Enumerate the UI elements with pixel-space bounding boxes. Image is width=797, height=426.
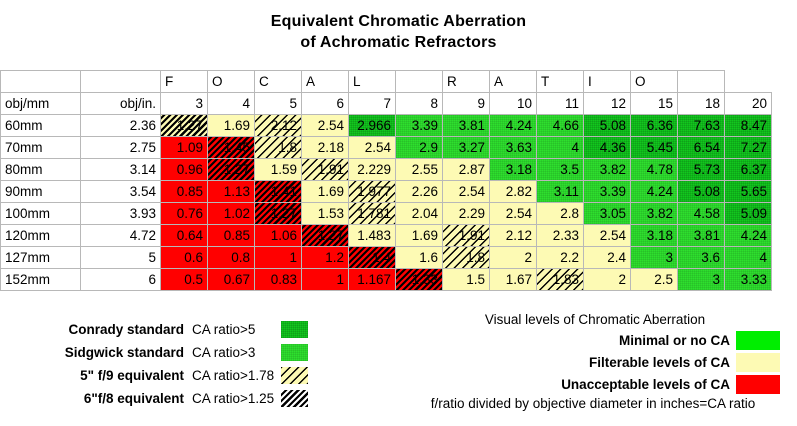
cell-ca-ratio: 2.82	[490, 181, 537, 203]
focal-ratio-letter: L	[349, 71, 396, 93]
legend-item: 5" f/9 equivalentCA ratio>1.78	[24, 364, 314, 386]
cell-ca-ratio: 3.18	[631, 225, 678, 247]
cell-ca-ratio: 4.78	[631, 159, 678, 181]
focal-ratio-letter: C	[255, 71, 302, 93]
cell-ca-ratio: 2.26	[396, 181, 443, 203]
cell-ca-ratio: 0.8	[208, 247, 255, 269]
chromatic-aberration-table: FOCALRATIO obj/mmobj/in.3456789101112151…	[0, 70, 772, 291]
visual-level-swatch-yellow	[736, 353, 780, 372]
cell-ca-ratio: 7.27	[725, 137, 772, 159]
cell-ca-ratio: 1	[302, 269, 349, 291]
table-row: 80mm3.140.961.271.591.912.2292.552.873.1…	[1, 159, 772, 181]
visual-level-label: Filterable levels of CA	[589, 355, 736, 370]
cell-ca-ratio: 0.64	[161, 225, 208, 247]
cell-ca-ratio: 1.69	[302, 181, 349, 203]
legend-swatch-green	[280, 343, 309, 362]
cell-ca-ratio: 5.08	[584, 115, 631, 137]
cell-ca-ratio: 4.24	[725, 225, 772, 247]
cell-ca-ratio: 2.8	[537, 203, 584, 225]
page-title: Equivalent Chromatic Aberration of Achro…	[0, 11, 797, 53]
cell-ca-ratio: 2.54	[302, 115, 349, 137]
legend-standard-name: 6"f/8 equivalent	[24, 391, 192, 406]
cell-ca-ratio: 1.5	[443, 269, 490, 291]
table-row: 100mm3.930.761.021.271.531.7812.042.292.…	[1, 203, 772, 225]
cell-ca-ratio: 5.65	[725, 181, 772, 203]
cell-ca-ratio: 2.5	[631, 269, 678, 291]
page-title-line-2: of Achromatic Refractors	[0, 32, 797, 53]
cell-ca-ratio: 1.8	[443, 247, 490, 269]
cell-ca-ratio: 5.45	[631, 137, 678, 159]
cell-ca-ratio: 8.47	[725, 115, 772, 137]
cell-ca-ratio: 0.96	[161, 159, 208, 181]
header-focal-ratio: 5	[255, 93, 302, 115]
header-focal-ratio: 11	[537, 93, 584, 115]
legend-swatch-hatch-dark	[280, 389, 309, 408]
cell-ca-ratio: 2.55	[396, 159, 443, 181]
cell-objective-mm: 127mm	[1, 247, 81, 269]
cell-ca-ratio: 2.54	[490, 203, 537, 225]
cell-ca-ratio: 3.05	[584, 203, 631, 225]
cell-ca-ratio: 1.02	[208, 203, 255, 225]
header-focal-ratio: 12	[584, 93, 631, 115]
cell-ca-ratio: 2.54	[349, 137, 396, 159]
cell-ca-ratio: 6.37	[725, 159, 772, 181]
focal-ratio-letter	[396, 71, 443, 93]
cell-ca-ratio: 2.04	[396, 203, 443, 225]
cell-ca-ratio: 1.6	[396, 247, 443, 269]
cell-ca-ratio: 2.966	[349, 115, 396, 137]
page-title-line-1: Equivalent Chromatic Aberration	[0, 11, 797, 32]
table-row: 90mm3.540.851.131.411.691.9772.262.542.8…	[1, 181, 772, 203]
cell-ca-ratio: 2.29	[443, 203, 490, 225]
cell-ca-ratio: 2.54	[584, 225, 631, 247]
visual-level-label: Unacceptable levels of CA	[561, 377, 736, 392]
legend-standard-name: Sidgwick standard	[24, 345, 192, 360]
cell-ca-ratio: 5.08	[678, 181, 725, 203]
cell-ca-ratio: 1.91	[302, 159, 349, 181]
cell-ca-ratio: 4	[537, 137, 584, 159]
cell-ca-ratio: 3.27	[443, 137, 490, 159]
legend-swatch-green2	[280, 320, 309, 339]
focal-ratio-letter: O	[208, 71, 255, 93]
cell-ca-ratio: 4.24	[631, 181, 678, 203]
table-row: 127mm50.60.811.21.41.61.822.22.433.64	[1, 247, 772, 269]
cell-ca-ratio: 2	[584, 269, 631, 291]
header-obj-in: obj/in.	[81, 93, 161, 115]
cell-ca-ratio: 1.83	[537, 269, 584, 291]
cell-ca-ratio: 4.36	[584, 137, 631, 159]
focal-ratio-letter	[678, 71, 725, 93]
cell-ca-ratio: 1.13	[208, 181, 255, 203]
legend-standard-condition: CA ratio>3	[192, 345, 280, 360]
visual-level-item: Unacceptable levels of CA	[430, 374, 780, 395]
cell-ca-ratio: 3.11	[537, 181, 584, 203]
cell-ca-ratio: 1.781	[349, 203, 396, 225]
cell-ca-ratio: 0.6	[161, 247, 208, 269]
cell-objective-in: 3.93	[81, 203, 161, 225]
table-row: 152mm60.50.670.8311.1671.331.51.671.8322…	[1, 269, 772, 291]
cell-ca-ratio: 6.36	[631, 115, 678, 137]
cell-ca-ratio: 2.87	[443, 159, 490, 181]
focal-ratio-letter: I	[584, 71, 631, 93]
header-focal-ratio: 18	[678, 93, 725, 115]
table-row: 120mm4.720.640.851.061.271.4831.691.912.…	[1, 225, 772, 247]
cell-ca-ratio: 1.27	[161, 115, 208, 137]
cell-objective-mm: 70mm	[1, 137, 81, 159]
table-row: 60mm2.361.271.692.122.542.9663.393.814.2…	[1, 115, 772, 137]
cell-ca-ratio: 1.27	[208, 159, 255, 181]
cell-ca-ratio: 3.39	[584, 181, 631, 203]
cell-ca-ratio: 2.4	[584, 247, 631, 269]
cell-ca-ratio: 3.39	[396, 115, 443, 137]
standards-legend: Conrady standardCA ratio>5Sidgwick stand…	[24, 318, 314, 410]
cell-ca-ratio: 2.54	[443, 181, 490, 203]
header-focal-ratio: 8	[396, 93, 443, 115]
cell-ca-ratio: 1.167	[349, 269, 396, 291]
legend-standard-name: 5" f/9 equivalent	[24, 368, 192, 383]
header-focal-ratio: 3	[161, 93, 208, 115]
cell-ca-ratio: 0.76	[161, 203, 208, 225]
cell-ca-ratio: 1.977	[349, 181, 396, 203]
cell-objective-in: 4.72	[81, 225, 161, 247]
cell-ca-ratio: 3.82	[584, 159, 631, 181]
legend-standard-condition: CA ratio>1.25	[192, 391, 280, 406]
cell-objective-mm: 60mm	[1, 115, 81, 137]
cell-ca-ratio: 0.83	[255, 269, 302, 291]
cell-ca-ratio: 4.24	[490, 115, 537, 137]
focal-letter-spacer-right	[81, 71, 161, 93]
cell-ca-ratio: 3	[678, 269, 725, 291]
visual-level-item: Filterable levels of CA	[430, 352, 780, 373]
cell-ca-ratio: 0.5	[161, 269, 208, 291]
cell-ca-ratio: 6.54	[678, 137, 725, 159]
cell-ca-ratio: 1.45	[208, 137, 255, 159]
cell-ca-ratio: 3.63	[490, 137, 537, 159]
cell-ca-ratio: 5.73	[678, 159, 725, 181]
cell-ca-ratio: 3.81	[443, 115, 490, 137]
cell-ca-ratio: 0.85	[208, 225, 255, 247]
table-row: 70mm2.751.091.451.82.182.542.93.273.6344…	[1, 137, 772, 159]
cell-objective-in: 2.75	[81, 137, 161, 159]
cell-ca-ratio: 1.69	[396, 225, 443, 247]
visual-level-label: Minimal or no CA	[619, 333, 736, 348]
legend-item: Sidgwick standardCA ratio>3	[24, 341, 314, 363]
header-focal-ratio: 6	[302, 93, 349, 115]
visual-levels-legend: Visual levels of Chromatic Aberration Mi…	[430, 312, 780, 396]
header-obj-mm: obj/mm	[1, 93, 81, 115]
cell-ca-ratio: 1	[255, 247, 302, 269]
header-focal-ratio: 15	[631, 93, 678, 115]
cell-ca-ratio: 3.5	[537, 159, 584, 181]
cell-ca-ratio: 1.483	[349, 225, 396, 247]
cell-ca-ratio: 2.229	[349, 159, 396, 181]
cell-objective-mm: 152mm	[1, 269, 81, 291]
header-focal-ratio: 7	[349, 93, 396, 115]
cell-ca-ratio: 7.63	[678, 115, 725, 137]
cell-ca-ratio: 1.67	[490, 269, 537, 291]
header-focal-ratio: 10	[490, 93, 537, 115]
cell-objective-in: 6	[81, 269, 161, 291]
cell-objective-mm: 80mm	[1, 159, 81, 181]
cell-objective-mm: 120mm	[1, 225, 81, 247]
cell-ca-ratio: 2.18	[302, 137, 349, 159]
legend-item: 6"f/8 equivalentCA ratio>1.25	[24, 387, 314, 409]
cell-ca-ratio: 2.12	[490, 225, 537, 247]
cell-objective-in: 3.14	[81, 159, 161, 181]
cell-ca-ratio: 2.33	[537, 225, 584, 247]
cell-ca-ratio: 1.53	[302, 203, 349, 225]
focal-ratio-letter: O	[631, 71, 678, 93]
focal-ratio-letter: F	[161, 71, 208, 93]
cell-ca-ratio: 1.06	[255, 225, 302, 247]
cell-ca-ratio: 1.33	[396, 269, 443, 291]
focal-ratio-letter: A	[490, 71, 537, 93]
cell-ca-ratio: 4.66	[537, 115, 584, 137]
cell-ca-ratio: 0.67	[208, 269, 255, 291]
cell-ca-ratio: 1.27	[302, 225, 349, 247]
focal-letter-spacer-left	[1, 71, 81, 93]
cell-ca-ratio: 3.81	[678, 225, 725, 247]
cell-ca-ratio: 3.6	[678, 247, 725, 269]
cell-ca-ratio: 1.59	[255, 159, 302, 181]
focal-ratio-values-row: obj/mmobj/in.3456789101112151820	[1, 93, 772, 115]
focal-ratio-letters-row: FOCALRATIO	[1, 71, 772, 93]
cell-ca-ratio: 1.8	[255, 137, 302, 159]
table-body: FOCALRATIO obj/mmobj/in.3456789101112151…	[1, 71, 772, 291]
header-focal-ratio: 20	[725, 93, 772, 115]
cell-ca-ratio: 1.91	[443, 225, 490, 247]
focal-ratio-letter: A	[302, 71, 349, 93]
focal-ratio-letter: R	[443, 71, 490, 93]
legend-item: Conrady standardCA ratio>5	[24, 318, 314, 340]
cell-ca-ratio: 3.33	[725, 269, 772, 291]
cell-objective-mm: 100mm	[1, 203, 81, 225]
footnote-text: f/ratio divided by objective diameter in…	[398, 396, 788, 411]
cell-ca-ratio: 3.82	[631, 203, 678, 225]
visual-levels-legend-rows: Minimal or no CAFilterable levels of CAU…	[430, 330, 780, 395]
cell-ca-ratio: 5.09	[725, 203, 772, 225]
cell-objective-in: 2.36	[81, 115, 161, 137]
cell-ca-ratio: 4.58	[678, 203, 725, 225]
cell-ca-ratio: 3	[631, 247, 678, 269]
header-focal-ratio: 9	[443, 93, 490, 115]
cell-ca-ratio: 3.18	[490, 159, 537, 181]
cell-ca-ratio: 2.9	[396, 137, 443, 159]
cell-ca-ratio: 2	[490, 247, 537, 269]
cell-objective-in: 5	[81, 247, 161, 269]
visual-level-item: Minimal or no CA	[430, 330, 780, 351]
header-focal-ratio: 4	[208, 93, 255, 115]
cell-ca-ratio: 4	[725, 247, 772, 269]
legend-standard-condition: CA ratio>5	[192, 322, 280, 337]
cell-ca-ratio: 1.27	[255, 203, 302, 225]
visual-levels-legend-title: Visual levels of Chromatic Aberration	[430, 312, 780, 327]
visual-level-swatch-green-solid	[736, 331, 780, 350]
cell-ca-ratio: 1.09	[161, 137, 208, 159]
cell-ca-ratio: 1.41	[255, 181, 302, 203]
cell-ca-ratio: 1.4	[349, 247, 396, 269]
cell-objective-mm: 90mm	[1, 181, 81, 203]
cell-ca-ratio: 0.85	[161, 181, 208, 203]
cell-ca-ratio: 1.2	[302, 247, 349, 269]
cell-ca-ratio: 1.69	[208, 115, 255, 137]
visual-level-swatch-red	[736, 375, 780, 394]
cell-ca-ratio: 2.2	[537, 247, 584, 269]
cell-ca-ratio: 2.12	[255, 115, 302, 137]
legend-standard-name: Conrady standard	[24, 322, 192, 337]
focal-ratio-letter: T	[537, 71, 584, 93]
legend-standard-condition: CA ratio>1.78	[192, 368, 280, 383]
legend-swatch-hatch-light	[280, 366, 309, 385]
cell-objective-in: 3.54	[81, 181, 161, 203]
